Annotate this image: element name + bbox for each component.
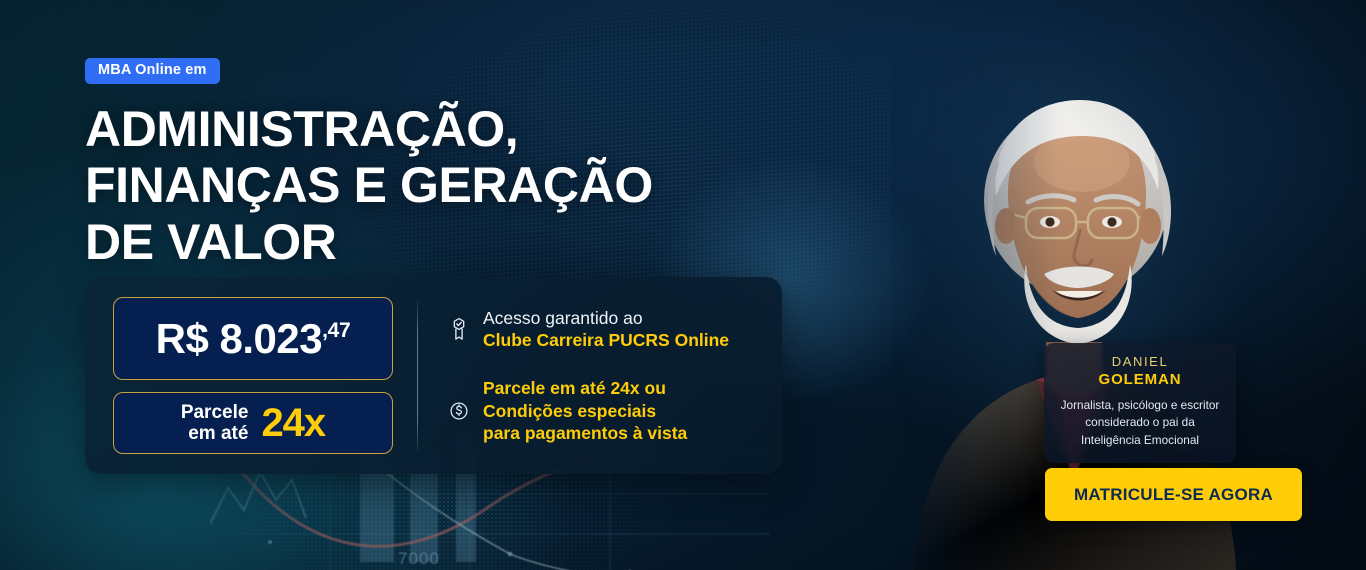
price-amount: R$ 8.023 [156, 318, 322, 360]
installment-label: Parcele em até [181, 402, 249, 445]
award-ribbon-icon [448, 316, 470, 342]
price-column: R$ 8.023,47 Parcele em até 24x [85, 297, 395, 454]
price-value: R$ 8.023,47 [156, 318, 351, 360]
feature-text: Acesso garantido ao Clube Carreira PUCRS… [483, 307, 729, 351]
installment-box: Parcele em até 24x [113, 392, 393, 454]
feature-line: para pagamentos à vista [483, 422, 687, 444]
enroll-now-button[interactable]: MATRICULE-SE AGORA [1045, 468, 1302, 521]
speaker-description-line: considerado o pai da [1056, 414, 1224, 431]
vertical-divider [417, 301, 418, 451]
feature-text: Parcele em até 24x ou Condições especiai… [483, 377, 687, 443]
headline-block: MBA Online em ADMINISTRAÇÃO, FINANÇAS E … [85, 58, 765, 270]
installment-count: 24x [261, 403, 325, 443]
course-type-badge: MBA Online em [85, 58, 220, 84]
speaker-first-name: DANIEL [1056, 354, 1224, 370]
speaker-description-line: Jornalista, psicólogo e escritor [1056, 397, 1224, 414]
headline-line-1: ADMINISTRAÇÃO, [85, 101, 765, 158]
price-box: R$ 8.023,47 [113, 297, 393, 380]
speaker-description: Jornalista, psicólogo e escritor conside… [1056, 397, 1224, 449]
speaker-last-name: GOLEMAN [1056, 370, 1224, 390]
feature-line: Condições especiais [483, 400, 687, 422]
installment-label-line-2: em até [181, 423, 249, 444]
feature-line: Parcele em até 24x ou [483, 377, 687, 399]
feature-list: Acesso garantido ao Clube Carreira PUCRS… [428, 307, 782, 443]
installment-label-line-1: Parcele [181, 402, 249, 423]
dollar-coin-icon [448, 398, 470, 424]
price-cents: ,47 [322, 320, 350, 341]
headline-line-2: FINANÇAS E GERAÇÃO [85, 157, 765, 214]
headline-line-3: DE VALOR [85, 214, 765, 271]
promo-banner: 7000 10000 [0, 0, 1366, 570]
feature-item: Acesso garantido ao Clube Carreira PUCRS… [448, 307, 782, 351]
speaker-card: DANIEL GOLEMAN Jornalista, psicólogo e e… [1044, 343, 1236, 463]
feature-line: Clube Carreira PUCRS Online [483, 329, 729, 351]
feature-item: Parcele em até 24x ou Condições especiai… [448, 377, 782, 443]
offer-panel: R$ 8.023,47 Parcele em até 24x [85, 277, 782, 474]
feature-line: Acesso garantido ao [483, 307, 729, 329]
speaker-description-line: Inteligência Emocional [1056, 432, 1224, 449]
page-title: ADMINISTRAÇÃO, FINANÇAS E GERAÇÃO DE VAL… [85, 101, 765, 271]
